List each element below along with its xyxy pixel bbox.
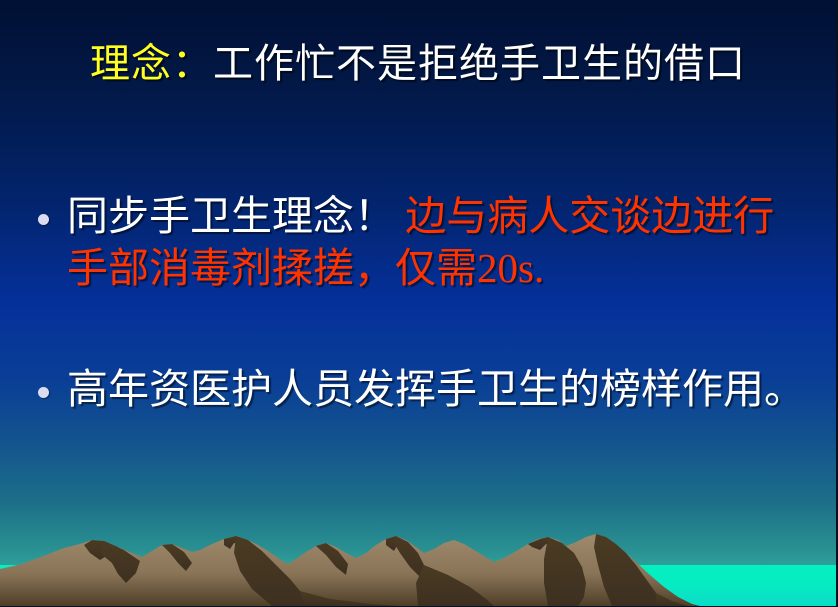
list-item-text: 高年资医护人员发挥手卫生的榜样作用。 xyxy=(67,363,810,415)
text-segment-white: 同步手卫生理念！ xyxy=(67,193,405,239)
slide-title: 理念：工作忙不是拒绝手卫生的借口 xyxy=(0,42,836,86)
list-item: 高年资医护人员发挥手卫生的榜样作用。 xyxy=(34,363,810,415)
bullet-list: 同步手卫生理念！ 边与病人交谈边进行手部消毒剂揉搓，仅需20s. 高年资医护人员… xyxy=(34,190,810,415)
presentation-slide: 理念：工作忙不是拒绝手卫生的借口 同步手卫生理念！ 边与病人交谈边进行手部消毒剂… xyxy=(0,0,838,607)
title-rest: 工作忙不是拒绝手卫生的借口 xyxy=(213,41,746,86)
list-item-text: 同步手卫生理念！ 边与病人交谈边进行手部消毒剂揉搓，仅需20s. xyxy=(67,190,810,295)
bullet-dot-icon xyxy=(38,387,49,398)
text-segment-white: 高年资医护人员发挥手卫生的榜样作用。 xyxy=(67,366,805,412)
bullet-dot-icon xyxy=(38,214,49,225)
title-highlight: 理念： xyxy=(90,41,213,86)
mountain-range-icon xyxy=(0,531,700,606)
list-item: 同步手卫生理念！ 边与病人交谈边进行手部消毒剂揉搓，仅需20s. xyxy=(34,190,810,295)
